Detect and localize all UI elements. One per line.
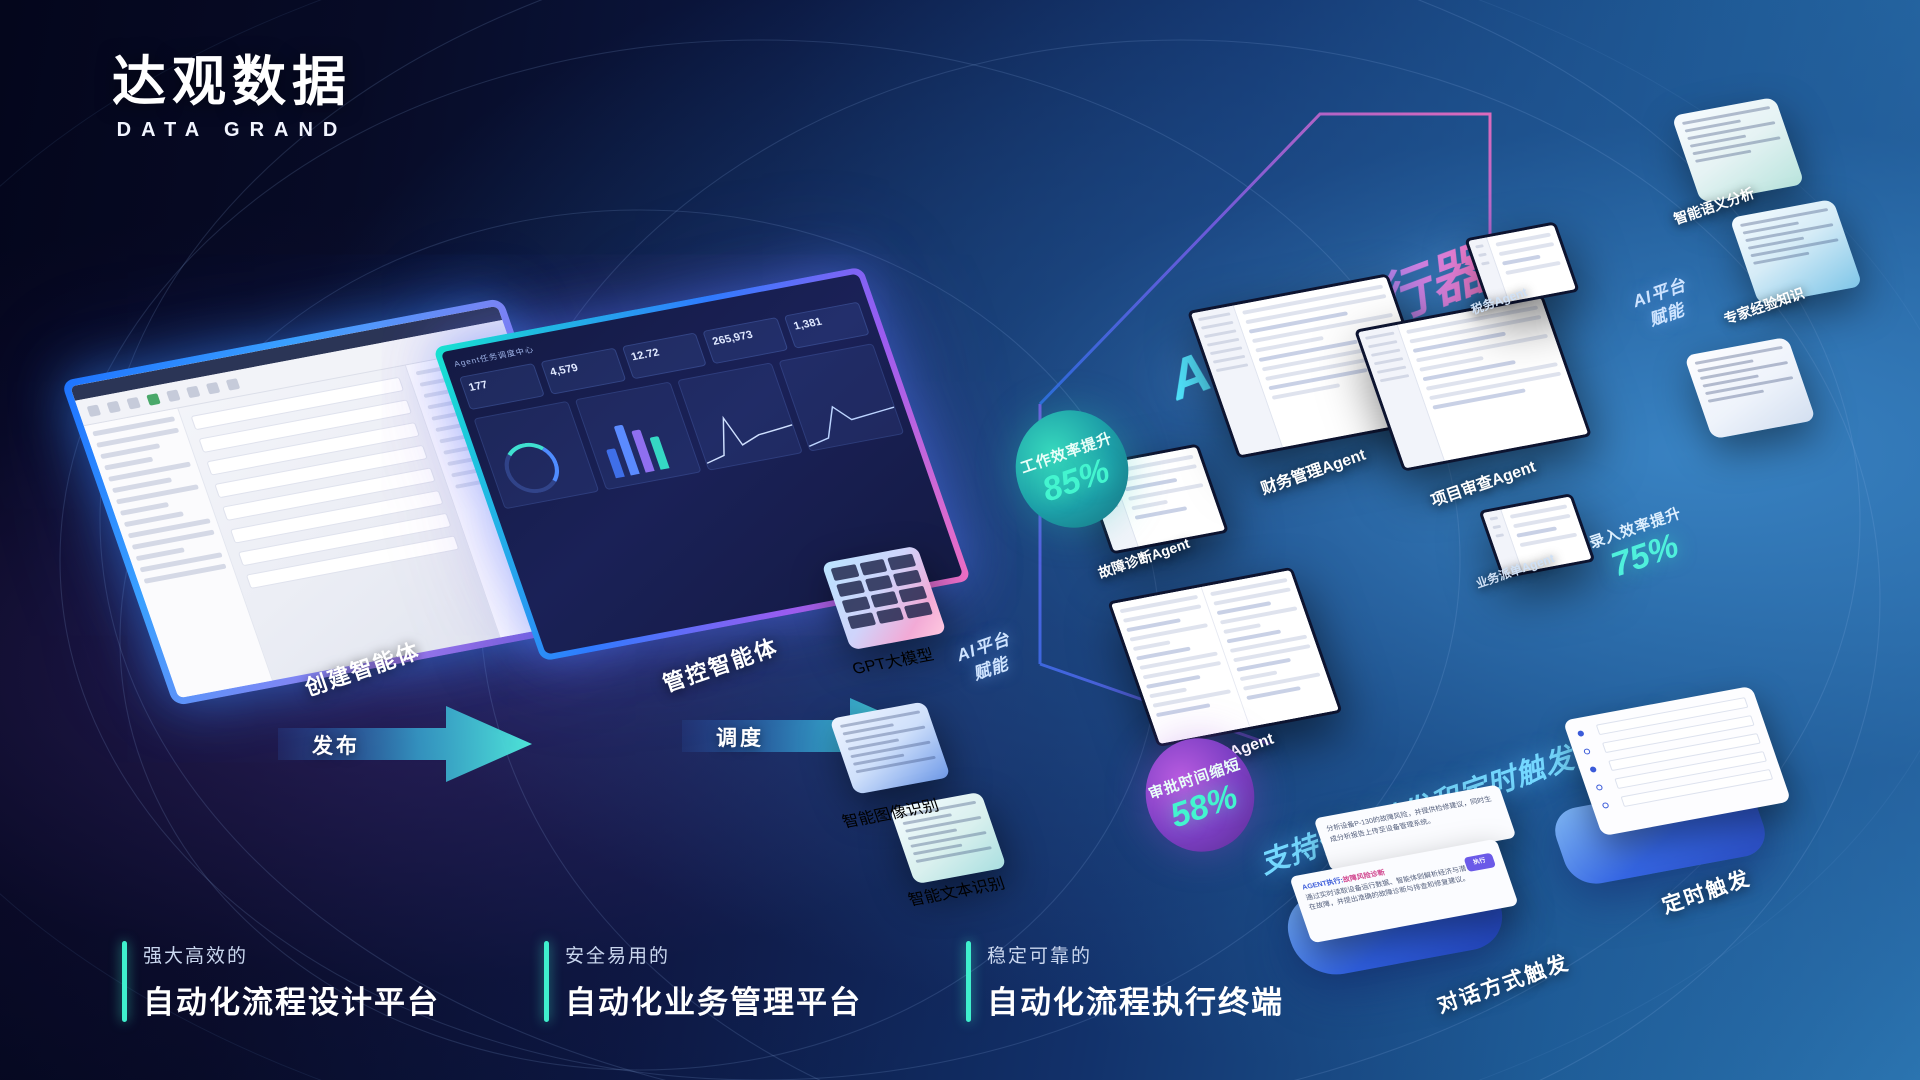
ribbon-icon — [126, 397, 141, 409]
trigger-label-chat: 对话方式触发 — [1433, 946, 1573, 1019]
image-recognition-ui — [840, 710, 940, 785]
knowledge-card-extra — [1684, 337, 1816, 439]
ribbon-icon — [106, 400, 121, 412]
flow-arrow-publish: 发布 — [276, 698, 536, 790]
bar-series — [597, 413, 670, 478]
chart-area-card — [778, 343, 904, 452]
ribbon-icon — [206, 382, 221, 394]
brand-name-en: DATA GRAND — [112, 119, 352, 142]
ribbon-icon-active — [146, 393, 161, 405]
footer-caption: 安全易用的 自动化业务管理平台 — [544, 941, 862, 1022]
chat-question-text: 分析设备P-130的故障风险，并提供检修建议，同时生成分析报告上传至设备管理系统… — [1326, 796, 1493, 843]
radio-on-icon[interactable] — [1577, 730, 1585, 737]
footer-captions: 强大高效的 自动化流程设计平台 安全易用的 自动化业务管理平台 稳定可靠的 自动… — [122, 941, 1284, 1022]
stat-bubble-entry-efficiency: 录入效率提升 75% — [1570, 471, 1712, 616]
caption-manage-agent: 管控智能体 — [658, 629, 782, 698]
footer-accent-bar — [544, 941, 549, 1022]
radio-off-icon[interactable] — [1583, 748, 1591, 755]
kpi-card: 265,973 — [703, 317, 789, 364]
footer-caption-main: 自动化流程执行终端 — [987, 977, 1284, 1022]
footer-caption-sub: 稳定可靠的 — [987, 941, 1284, 968]
agent-screen-document-generation — [1107, 567, 1342, 747]
radio-on-icon[interactable] — [1589, 766, 1597, 773]
infographic-canvas: 达观数据 DATA GRAND Agent开发平台 — [0, 0, 1920, 1080]
ai-platform-empower-mid: AI平台 赋能 — [954, 628, 1021, 689]
ai-platform-empower-right: AI平台 赋能 — [1630, 274, 1697, 335]
footer-caption-sub: 强大高效的 — [143, 941, 440, 968]
footer-accent-bar — [122, 941, 127, 1022]
gpt-model-chip-grid — [831, 554, 938, 643]
footer-caption: 稳定可靠的 自动化流程执行终端 — [966, 941, 1284, 1022]
flow-arrow-publish-label: 发布 — [312, 730, 360, 760]
flow-arrow-dispatch-label: 调度 — [716, 722, 764, 752]
kpi-card: 12.72 — [621, 332, 707, 379]
trigger-label-timer: 定时触发 — [1658, 862, 1755, 920]
brand-name-cn: 达观数据 — [112, 54, 352, 111]
gauge-ring — [497, 439, 566, 498]
kpi-card: 4,579 — [540, 348, 626, 395]
ribbon-icon — [226, 378, 241, 390]
footer-caption-main: 自动化业务管理平台 — [565, 977, 862, 1022]
ribbon-icon — [186, 385, 201, 397]
kpi-card: 1,381 — [784, 302, 870, 349]
footer-accent-bar — [966, 941, 971, 1022]
ribbon-icon — [166, 389, 181, 401]
footer-caption: 强大高效的 自动化流程设计平台 — [122, 941, 440, 1022]
brand-logo: 达观数据 DATA GRAND — [112, 54, 352, 142]
kpi-card: 177 — [459, 363, 545, 410]
radio-off-icon[interactable] — [1595, 784, 1603, 791]
radio-off-icon[interactable] — [1601, 802, 1609, 809]
footer-caption-sub: 安全易用的 — [565, 941, 862, 968]
footer-caption-main: 自动化流程设计平台 — [143, 977, 440, 1022]
ribbon-icon — [86, 404, 101, 416]
